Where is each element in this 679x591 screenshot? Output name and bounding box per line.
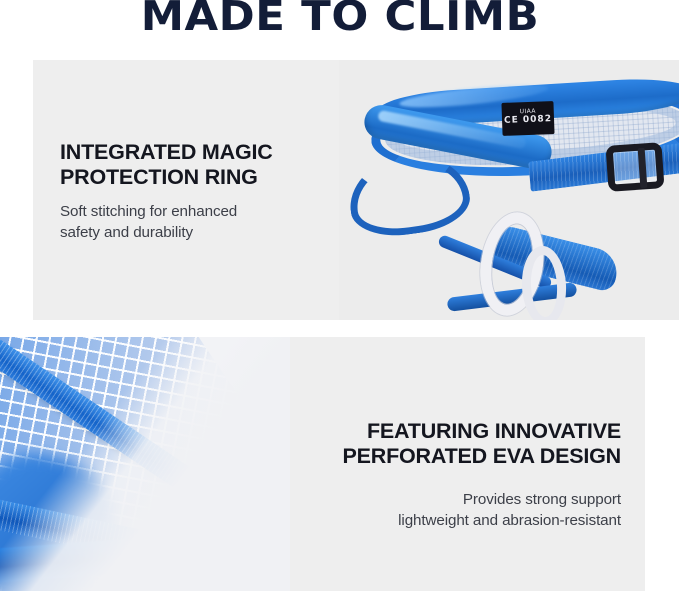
banner-header: MADE TO CLIMB bbox=[0, 0, 679, 52]
harness-certification-label: UIAA CE 0082 bbox=[501, 101, 554, 136]
panel-one-text-block: INTEGRATED MAGIC PROTECTION RING Soft st… bbox=[60, 140, 360, 243]
panel-two-subtext: Provides strong support lightweight and … bbox=[291, 489, 621, 531]
mesh-fabric-photo bbox=[0, 337, 290, 591]
label-ce-text: CE 0082 bbox=[502, 115, 554, 125]
harness-buckle bbox=[605, 142, 664, 192]
harness-product-photo: UIAA CE 0082 bbox=[339, 60, 679, 320]
page-title: MADE TO CLIMB bbox=[140, 0, 539, 37]
feature-panel-perforated-eva-design: FEATURING INNOVATIVE PERFORATED EVA DESI… bbox=[0, 337, 645, 591]
panel-two-heading: FEATURING INNOVATIVE PERFORATED EVA DESI… bbox=[291, 419, 621, 469]
panel-one-heading: INTEGRATED MAGIC PROTECTION RING bbox=[60, 140, 360, 190]
panel-one-subtext: Soft stitching for enhanced safety and d… bbox=[60, 201, 360, 243]
mesh-photo-fade bbox=[0, 337, 290, 591]
feature-panel-integrated-magic-protection-ring: INTEGRATED MAGIC PROTECTION RING Soft st… bbox=[33, 60, 679, 320]
panel-two-text-block: FEATURING INNOVATIVE PERFORATED EVA DESI… bbox=[291, 419, 621, 531]
